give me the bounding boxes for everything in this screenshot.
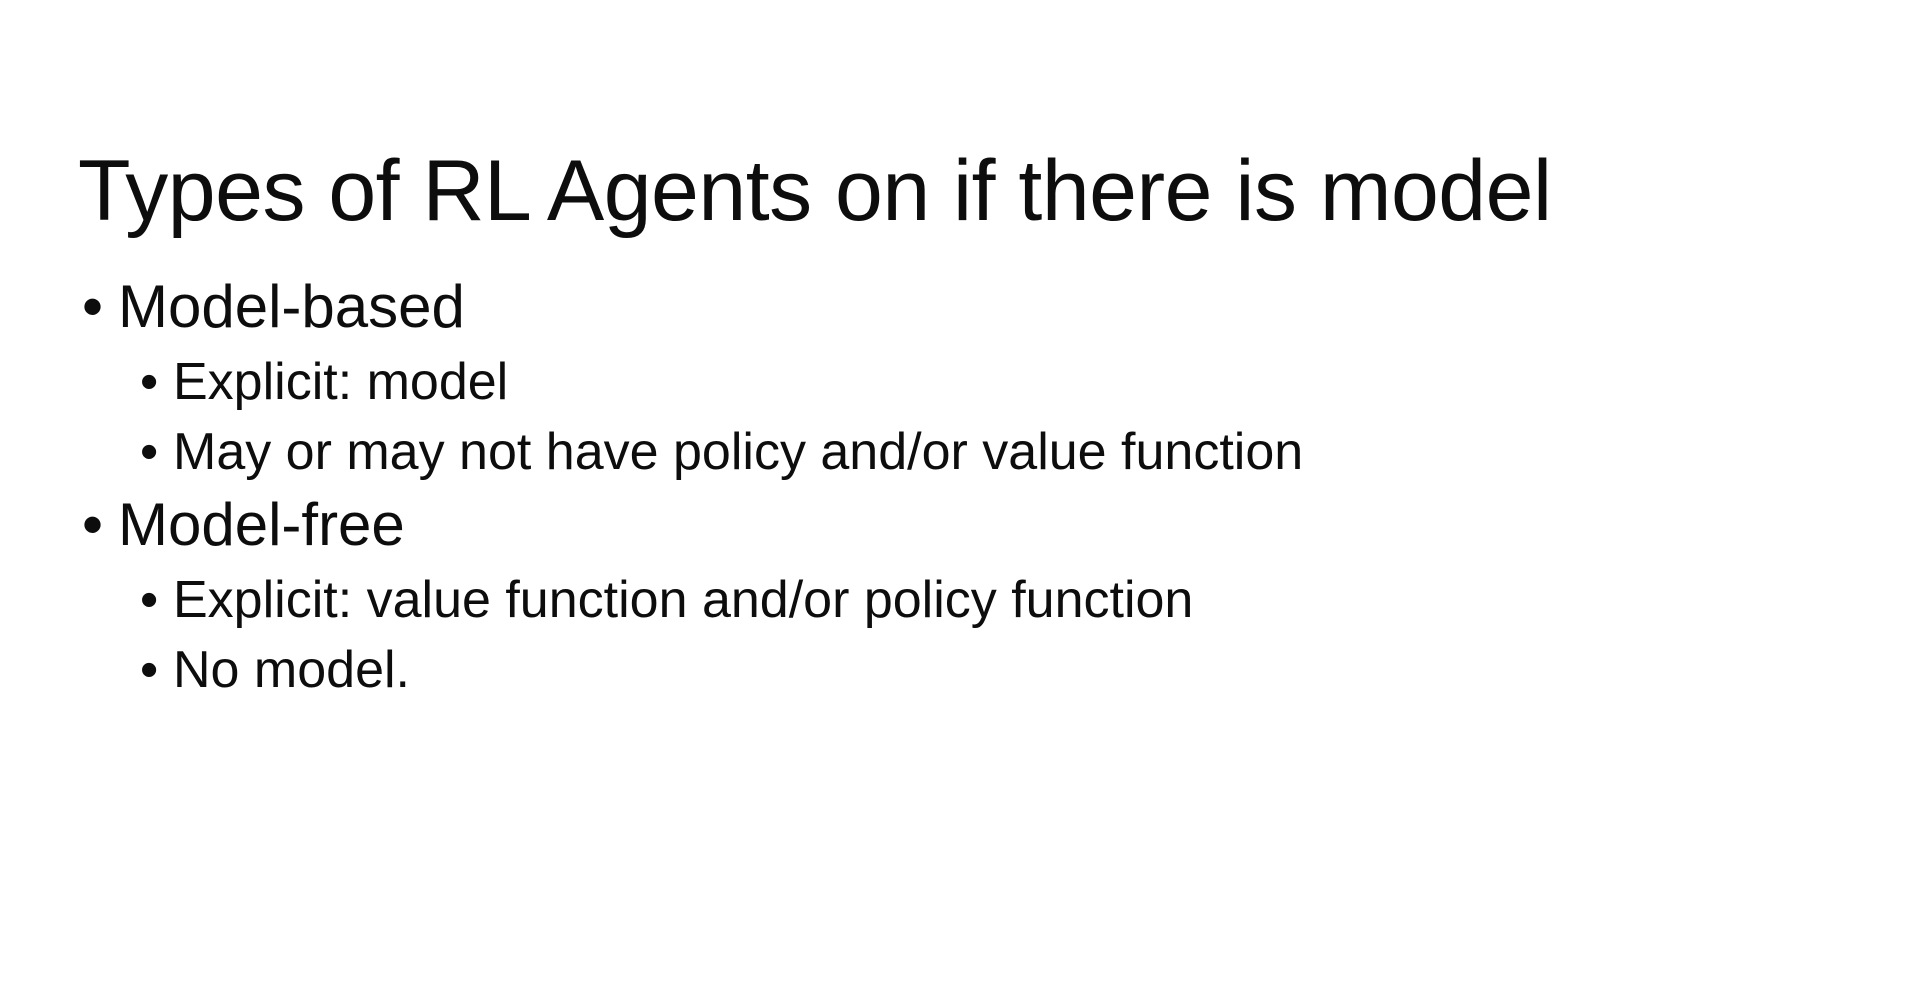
list-item: • Model-free — [66, 490, 1856, 561]
list-item-label: No model. — [173, 637, 410, 704]
bullet-point-icon: • — [82, 490, 118, 561]
list-item-label: Explicit: value function and/or policy f… — [173, 567, 1193, 634]
bullet-point-icon: • — [140, 419, 173, 486]
list-item-label: Model-free — [118, 490, 405, 561]
bullet-point-icon: • — [82, 272, 118, 343]
list-item-label: May or may not have policy and/or value … — [173, 419, 1303, 486]
bullet-point-icon: • — [140, 349, 173, 416]
list-item: • Model-based — [66, 272, 1856, 343]
list-item-label: Explicit: model — [173, 349, 508, 416]
list-item: • Explicit: value function and/or policy… — [66, 567, 1856, 634]
list-item: • No model. — [66, 637, 1856, 704]
list-item: • May or may not have policy and/or valu… — [66, 419, 1856, 486]
page-title: Types of RL Agents on if there is model — [78, 146, 1838, 236]
list-item-label: Model-based — [118, 272, 465, 343]
bullet-point-icon: • — [140, 567, 173, 634]
list-item: • Explicit: model — [66, 349, 1856, 416]
bullet-point-icon: • — [140, 637, 173, 704]
slide-body-content: • Model-based • Explicit: model • May or… — [66, 272, 1856, 708]
presentation-slide: Types of RL Agents on if there is model … — [0, 0, 1920, 1004]
